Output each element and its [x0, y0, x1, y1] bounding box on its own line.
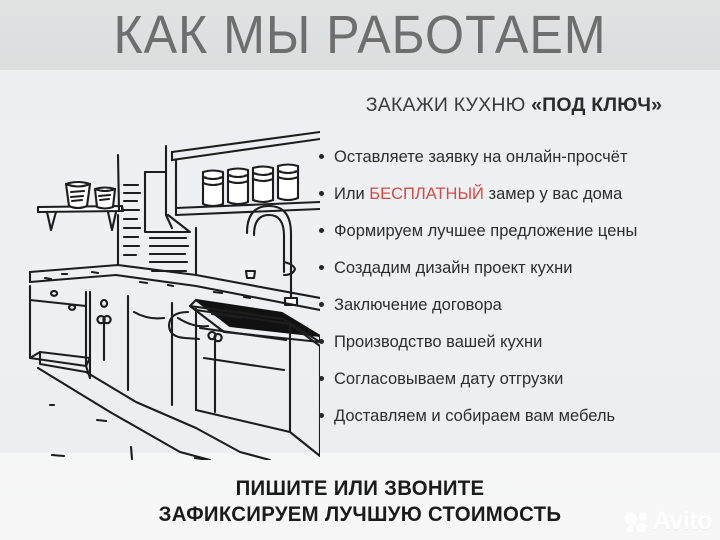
bullet-dot-icon: [319, 191, 324, 196]
poster-canvas: КАК МЫ РАБОТАЕМ: [0, 0, 720, 540]
offer-subtitle: ЗАКАЖИ КУХНЮ «ПОД КЛЮЧ»: [312, 92, 716, 118]
list-item: Производство вашей кухни: [310, 331, 718, 368]
list-item: Или БЕСПЛАТНЫЙ замер у вас дома: [310, 183, 718, 220]
footer-callout: ПИШИТЕ ИЛИ ЗВОНИТЕ ЗАФИКСИРУЕМ ЛУЧШУЮ СТ…: [0, 476, 720, 528]
bullet-dot-icon: [319, 228, 324, 233]
bullet-dot-icon: [319, 413, 324, 418]
kitchen-line-drawing: [0, 60, 320, 460]
offer-subtitle-bold: «ПОД КЛЮЧ»: [531, 94, 662, 116]
list-item: Формируем лучшее предложение цены: [310, 220, 718, 257]
avito-wordmark: Avito: [653, 509, 712, 534]
footer-line-1: ПИШИТЕ ИЛИ ЗВОНИТЕ: [11, 476, 709, 502]
bullet-dot-icon: [319, 339, 324, 344]
offer-block: ЗАКАЖИ КУХНЮ «ПОД КЛЮЧ»: [312, 92, 716, 118]
avito-dots-icon: [624, 511, 650, 533]
list-item-highlight: БЕСПЛАТНЫЙ: [369, 185, 484, 203]
avito-watermark: Avito: [624, 509, 712, 534]
steps-list: Оставляете заявку на онлайн-просчёт Или …: [310, 146, 718, 442]
bullet-dot-icon: [319, 265, 324, 270]
bullet-dot-icon: [319, 302, 324, 307]
bullet-dot-icon: [319, 154, 324, 159]
list-item: Согласовываем дату отгрузки: [310, 368, 718, 405]
list-item-label-suffix: замер у вас дома: [484, 185, 622, 203]
list-item-label: Оставляете заявку на онлайн-просчёт: [334, 148, 628, 166]
list-item-label: Согласовываем дату отгрузки: [334, 370, 563, 388]
list-item: Доставляем и собираем вам мебель: [310, 405, 718, 442]
list-item-label: Производство вашей кухни: [334, 333, 542, 351]
list-item-label: Формируем лучшее предложение цены: [334, 222, 637, 240]
list-item: Оставляете заявку на онлайн-просчёт: [310, 146, 718, 183]
page-title: КАК МЫ РАБОТАЕМ: [25, 4, 695, 66]
footer-line-2: ЗАФИКСИРУЕМ ЛУЧШУЮ СТОИМОСТЬ: [11, 502, 709, 528]
offer-subtitle-regular: ЗАКАЖИ КУХНЮ: [366, 94, 531, 116]
list-item-label: Заключение договора: [334, 296, 502, 314]
list-item: Создадим дизайн проект кухни: [310, 257, 718, 294]
bullet-dot-icon: [319, 376, 324, 381]
list-item: Заключение договора: [310, 294, 718, 331]
list-item-label-prefix: Или: [334, 185, 369, 203]
list-item-label: Создадим дизайн проект кухни: [334, 259, 572, 277]
list-item-label: Доставляем и собираем вам мебель: [334, 407, 615, 425]
